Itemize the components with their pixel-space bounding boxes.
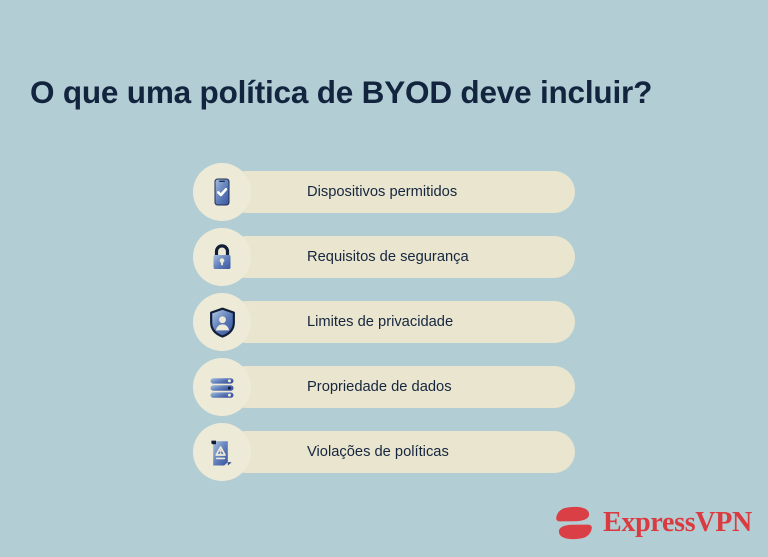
list-item-badge bbox=[193, 228, 251, 286]
list-item-badge bbox=[193, 423, 251, 481]
list-item-badge bbox=[193, 358, 251, 416]
shield-person-icon bbox=[206, 306, 239, 339]
document-warning-icon bbox=[206, 436, 238, 468]
checklist: Dispositivos permitidos bbox=[193, 168, 575, 476]
list-item-badge bbox=[193, 293, 251, 351]
list-item: Dispositivos permitidos bbox=[193, 168, 575, 216]
list-item-pill: Requisitos de segurança bbox=[225, 236, 575, 278]
list-item-label: Violações de políticas bbox=[307, 431, 449, 473]
smartphone-check-icon bbox=[206, 176, 238, 208]
list-item-label: Requisitos de segurança bbox=[307, 236, 469, 278]
server-stack-icon bbox=[206, 371, 238, 403]
list-item-pill: Limites de privacidade bbox=[225, 301, 575, 343]
padlock-icon bbox=[206, 241, 238, 273]
infographic-poster: O que uma política de BYOD deve incluir?… bbox=[0, 0, 768, 557]
list-item-label: Dispositivos permitidos bbox=[307, 171, 457, 213]
list-item-badge bbox=[193, 163, 251, 221]
list-item: Propriedade de dados bbox=[193, 363, 575, 411]
brand-wordmark: ExpressVPN bbox=[603, 509, 752, 537]
list-item-pill: Violações de políticas bbox=[225, 431, 575, 473]
expressvpn-e-mark-icon bbox=[554, 505, 594, 541]
list-item-pill: Dispositivos permitidos bbox=[225, 171, 575, 213]
list-item-pill: Propriedade de dados bbox=[225, 366, 575, 408]
list-item: Requisitos de segurança bbox=[193, 233, 575, 281]
list-item-label: Limites de privacidade bbox=[307, 301, 453, 343]
list-item-label: Propriedade de dados bbox=[307, 366, 452, 408]
list-item: Violações de políticas bbox=[193, 428, 575, 476]
expressvpn-logo[interactable]: ExpressVPN bbox=[554, 503, 752, 543]
page-title: O que uma política de BYOD deve incluir? bbox=[30, 73, 740, 112]
list-item: Limites de privacidade bbox=[193, 298, 575, 346]
